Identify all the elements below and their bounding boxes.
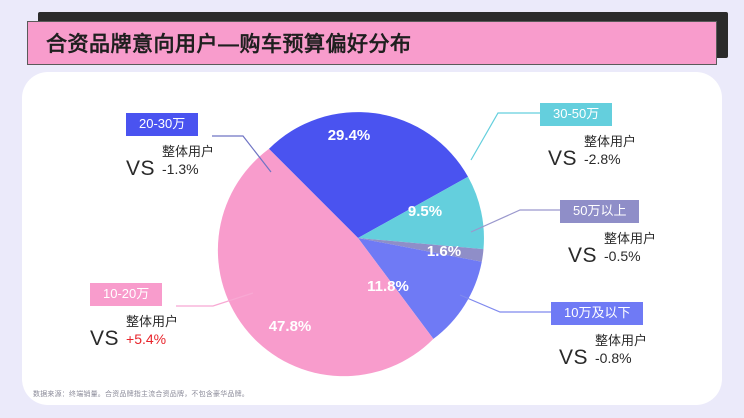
callout-chip-20-30[interactable]: 20-30万 — [126, 113, 198, 136]
vs-title: 整体用户 — [584, 134, 636, 149]
callout-50-up[interactable]: 50万以上 VS 整体用户 -0.5% — [560, 200, 656, 266]
vs-delta: +5.4% — [126, 331, 166, 347]
vs-title: 整体用户 — [162, 144, 214, 159]
vs-delta: -2.8% — [584, 151, 621, 167]
vs-body: 整体用户 -0.8% — [595, 332, 647, 368]
vs-label: VS — [126, 158, 155, 179]
callout-vs-row-10-down: VS 整体用户 -0.8% — [559, 332, 647, 368]
callout-chip-10-down[interactable]: 10万及以下 — [551, 302, 643, 325]
callout-chip-50-up[interactable]: 50万以上 — [560, 200, 639, 223]
vs-label: VS — [548, 148, 577, 169]
pie-value-50-up: 1.6% — [427, 243, 461, 260]
callout-vs-row-20-30: VS 整体用户 -1.3% — [126, 143, 214, 179]
page-title: 合资品牌意向用户—购车预算偏好分布 — [46, 28, 412, 58]
vs-delta: -0.8% — [595, 350, 632, 366]
pie-value-30-50: 9.5% — [408, 203, 442, 220]
vs-body: 整体用户 -2.8% — [584, 133, 636, 169]
callout-20-30[interactable]: 20-30万 VS 整体用户 -1.3% — [126, 113, 214, 179]
vs-label: VS — [559, 347, 588, 368]
pie-value-10-20: 47.8% — [269, 318, 312, 335]
callout-30-50[interactable]: 30-50万 VS 整体用户 -2.8% — [540, 103, 636, 169]
source-footnote: 数据来源：终端销量。合资品牌指主流合资品牌，不包含豪华品牌。 — [33, 389, 249, 399]
pie-value-20-30: 29.4% — [328, 127, 371, 144]
callout-chip-10-20[interactable]: 10-20万 — [90, 283, 162, 306]
vs-delta: -1.3% — [162, 161, 199, 177]
callout-10-20[interactable]: 10-20万 VS 整体用户 +5.4% — [90, 283, 178, 349]
vs-body: 整体用户 +5.4% — [126, 313, 178, 349]
callout-chip-30-50[interactable]: 30-50万 — [540, 103, 612, 126]
callout-vs-row-30-50: VS 整体用户 -2.8% — [548, 133, 636, 169]
pie-svg: 29.4% 9.5% 1.6% 11.8% 47.8% — [232, 112, 484, 364]
vs-body: 整体用户 -0.5% — [604, 230, 656, 266]
vs-label: VS — [568, 245, 597, 266]
slide-canvas: 合资品牌意向用户—购车预算偏好分布 29.4% 9.5% 1.6% 11.8% … — [0, 0, 744, 418]
title-banner: 合资品牌意向用户—购车预算偏好分布 — [27, 21, 717, 65]
vs-title: 整体用户 — [604, 231, 656, 246]
callout-vs-row-50-up: VS 整体用户 -0.5% — [568, 230, 656, 266]
vs-title: 整体用户 — [126, 314, 178, 329]
vs-body: 整体用户 -1.3% — [162, 143, 214, 179]
pie-value-10-down: 11.8% — [367, 278, 409, 295]
vs-delta: -0.5% — [604, 248, 641, 264]
pie-chart: 29.4% 9.5% 1.6% 11.8% 47.8% — [232, 112, 484, 364]
callout-10-down[interactable]: 10万及以下 VS 整体用户 -0.8% — [551, 302, 647, 368]
vs-title: 整体用户 — [595, 333, 647, 348]
vs-label: VS — [90, 328, 119, 349]
callout-vs-row-10-20: VS 整体用户 +5.4% — [90, 313, 178, 349]
